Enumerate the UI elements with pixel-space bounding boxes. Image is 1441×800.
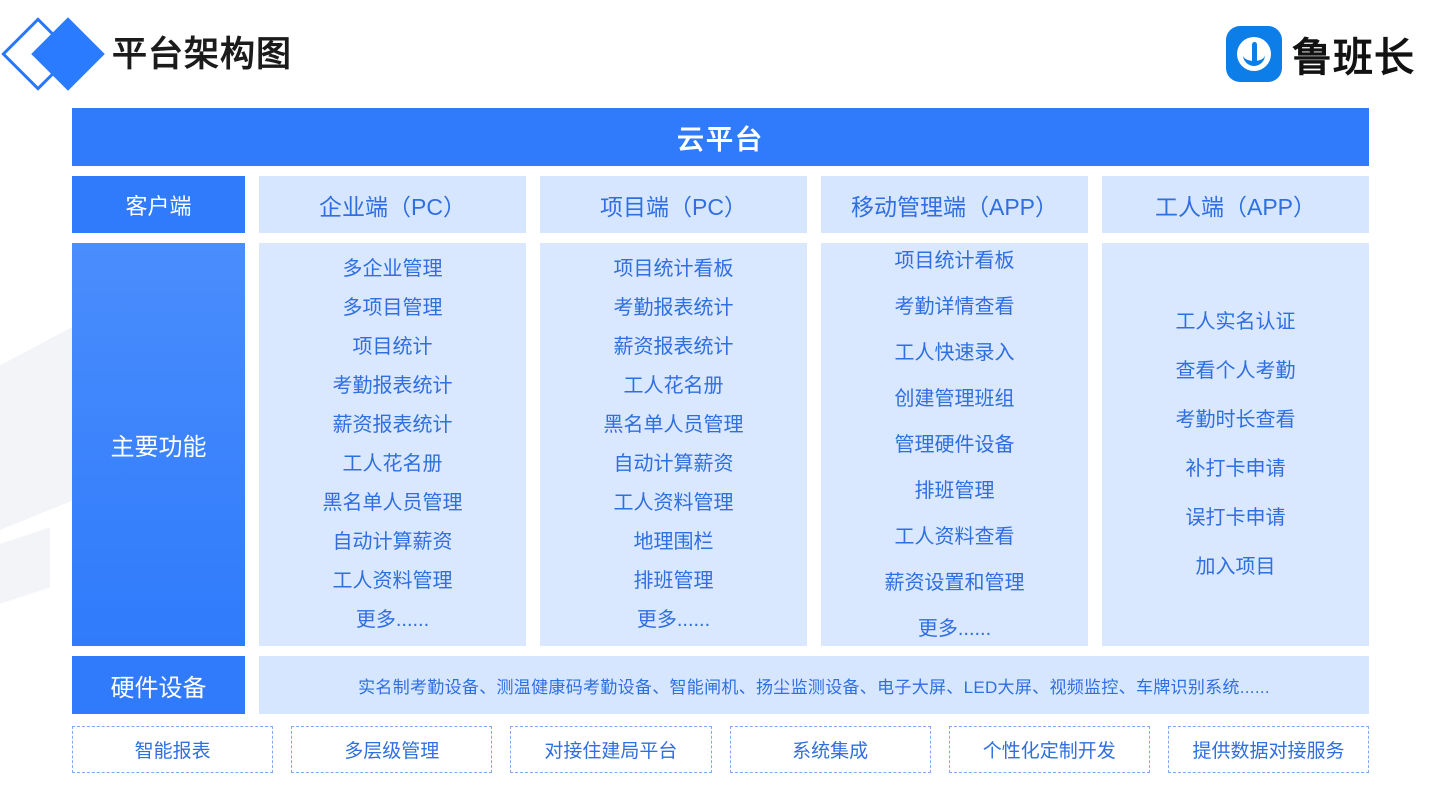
- list-item: 项目统计看板: [895, 238, 1015, 284]
- list-item: 项目统计: [353, 328, 433, 367]
- cloud-platform-banner: 云平台: [72, 108, 1369, 166]
- client-header-row: 客户端 企业端（PC） 项目端（PC） 移动管理端（APP） 工人端（APP）: [72, 176, 1369, 233]
- list-item: 排班管理: [634, 562, 714, 601]
- column-header-enterprise: 企业端（PC）: [259, 176, 526, 233]
- tag-government-platform: 对接住建局平台: [510, 726, 711, 773]
- column-header-worker: 工人端（APP）: [1102, 176, 1369, 233]
- column-header-mobile-admin: 移动管理端（APP）: [821, 176, 1088, 233]
- list-item: 考勤报表统计: [333, 367, 453, 406]
- list-item: 更多......: [918, 606, 991, 652]
- tag-custom-development: 个性化定制开发: [949, 726, 1150, 773]
- list-item: 多项目管理: [343, 289, 443, 328]
- logo-glyph-icon: [1237, 37, 1271, 71]
- row-label-main-functions: 主要功能: [72, 243, 245, 646]
- page-header: 平台架构图 鲁班长: [0, 0, 1441, 108]
- tag-system-integration: 系统集成: [730, 726, 931, 773]
- list-item: 创建管理班组: [895, 376, 1015, 422]
- list-item: 黑名单人员管理: [604, 406, 744, 445]
- brand: 鲁班长: [1226, 25, 1415, 83]
- list-item: 考勤报表统计: [614, 289, 734, 328]
- tag-smart-report: 智能报表: [72, 726, 273, 773]
- list-item: 薪资报表统计: [614, 328, 734, 367]
- list-item: 更多......: [637, 601, 710, 640]
- function-list-mobile-admin: 项目统计看板 考勤详情查看 工人快速录入 创建管理班组 管理硬件设备 排班管理 …: [821, 243, 1088, 646]
- row-label-client: 客户端: [72, 176, 245, 233]
- hardware-list: 实名制考勤设备、测温健康码考勤设备、智能闸机、扬尘监测设备、电子大屏、LED大屏…: [259, 656, 1369, 714]
- brand-name: 鲁班长: [1292, 25, 1415, 83]
- tag-data-service: 提供数据对接服务: [1168, 726, 1369, 773]
- function-list-worker: 工人实名认证 查看个人考勤 考勤时长查看 补打卡申请 误打卡申请 加入项目: [1102, 243, 1369, 646]
- list-item: 更多......: [356, 601, 429, 640]
- list-item: 工人资料管理: [333, 562, 453, 601]
- capability-tag-row: 智能报表 多层级管理 对接住建局平台 系统集成 个性化定制开发 提供数据对接服务: [72, 726, 1369, 773]
- list-item: 工人资料查看: [895, 514, 1015, 560]
- decorative-shape-3: [0, 528, 50, 653]
- list-item: 管理硬件设备: [895, 422, 1015, 468]
- tag-multi-level-management: 多层级管理: [291, 726, 492, 773]
- hardware-row: 硬件设备 实名制考勤设备、测温健康码考勤设备、智能闸机、扬尘监测设备、电子大屏、…: [72, 656, 1369, 714]
- list-item: 薪资设置和管理: [885, 560, 1025, 606]
- list-item: 考勤详情查看: [895, 284, 1015, 330]
- row-label-hardware: 硬件设备: [72, 656, 245, 714]
- list-item: 误打卡申请: [1186, 494, 1286, 543]
- list-item: 自动计算薪资: [333, 523, 453, 562]
- diamond-logo-icon: [6, 14, 110, 94]
- list-item: 黑名单人员管理: [323, 484, 463, 523]
- list-item: 工人快速录入: [895, 330, 1015, 376]
- list-item: 工人花名册: [624, 367, 724, 406]
- main-functions-row: 主要功能 多企业管理 多项目管理 项目统计 考勤报表统计 薪资报表统计 工人花名…: [72, 243, 1369, 646]
- list-item: 加入项目: [1196, 543, 1276, 592]
- list-item: 排班管理: [915, 468, 995, 514]
- function-list-enterprise: 多企业管理 多项目管理 项目统计 考勤报表统计 薪资报表统计 工人花名册 黑名单…: [259, 243, 526, 646]
- list-item: 考勤时长查看: [1176, 396, 1296, 445]
- architecture-diagram: 云平台 客户端 企业端（PC） 项目端（PC） 移动管理端（APP） 工人端（A…: [72, 108, 1369, 773]
- list-item: 查看个人考勤: [1176, 347, 1296, 396]
- list-item: 工人实名认证: [1176, 298, 1296, 347]
- luban-logo-icon: [1226, 26, 1282, 82]
- list-item: 工人花名册: [343, 445, 443, 484]
- function-list-project: 项目统计看板 考勤报表统计 薪资报表统计 工人花名册 黑名单人员管理 自动计算薪…: [540, 243, 807, 646]
- list-item: 补打卡申请: [1186, 445, 1286, 494]
- column-header-project: 项目端（PC）: [540, 176, 807, 233]
- list-item: 多企业管理: [343, 250, 443, 289]
- list-item: 地理围栏: [634, 523, 714, 562]
- page-title: 平台架构图: [112, 37, 292, 72]
- list-item: 工人资料管理: [614, 484, 734, 523]
- list-item: 自动计算薪资: [614, 445, 734, 484]
- title-block: 平台架构图: [0, 14, 292, 94]
- list-item: 薪资报表统计: [333, 406, 453, 445]
- list-item: 项目统计看板: [614, 250, 734, 289]
